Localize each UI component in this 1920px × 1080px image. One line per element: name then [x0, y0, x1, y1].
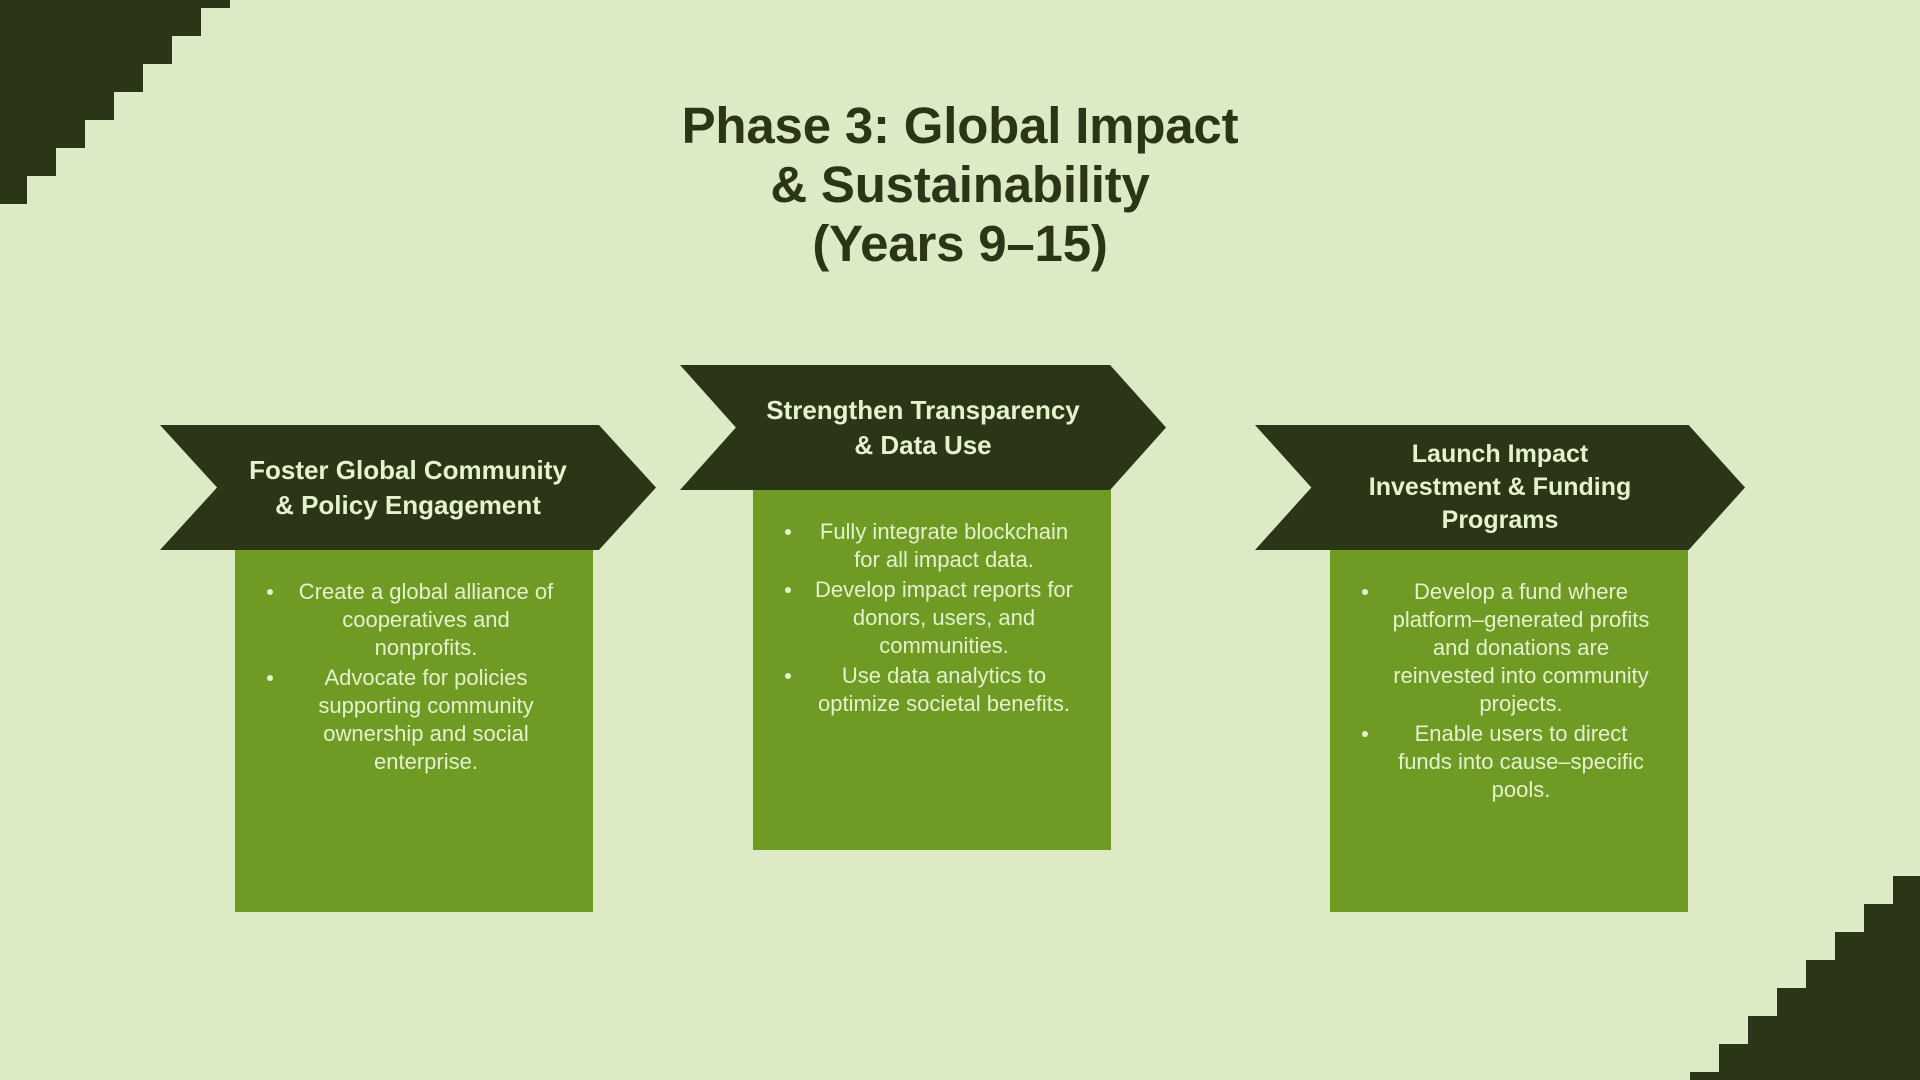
list-item: Develop a fund where platform–generated … [1352, 578, 1666, 718]
bullet-dot-icon [785, 587, 791, 593]
bullet-dot-icon [785, 529, 791, 535]
card-1-bullet-2-text: Advocate for policies supporting communi… [318, 665, 533, 774]
card-3-heading-line-1: Launch Impact [1325, 438, 1675, 471]
page-title-line-2: & Sustainability [0, 155, 1920, 214]
page-title-line-3: (Years 9–15) [0, 214, 1920, 273]
card-2-body-panel: Fully integrate blockchain for all impac… [753, 490, 1111, 850]
card-2-bullet-2-text: Develop impact reports for donors, users… [815, 577, 1073, 658]
card-3-body-panel: Develop a fund where platform–generated … [1330, 550, 1688, 912]
page-title: Phase 3: Global Impact & Sustainability … [0, 96, 1920, 273]
bullet-dot-icon [267, 589, 273, 595]
bullet-dot-icon [1362, 731, 1368, 737]
stair-step-corner-bottom-right [1660, 850, 1920, 1080]
bullet-dot-icon [267, 675, 273, 681]
bullet-dot-icon [785, 673, 791, 679]
card-1-chevron-header[interactable]: Foster Global Community & Policy Engagem… [160, 425, 656, 550]
list-item: Use data analytics to optimize societal … [775, 662, 1089, 718]
list-item: Enable users to direct funds into cause–… [1352, 720, 1666, 804]
card-2-bullet-list: Fully integrate blockchain for all impac… [775, 518, 1089, 718]
card-1-body-panel: Create a global alliance of cooperatives… [235, 550, 593, 912]
list-item: Develop impact reports for donors, users… [775, 576, 1089, 660]
card-2-heading-line-2: & Data Use [750, 428, 1096, 462]
card-3-bullet-2-text: Enable users to direct funds into cause–… [1398, 721, 1644, 802]
card-3-chevron-header[interactable]: Launch Impact Investment & Funding Progr… [1255, 425, 1745, 550]
card-2-heading-line-1: Strengthen Transparency [750, 393, 1096, 427]
card-3-bullet-1-text: Develop a fund where platform–generated … [1393, 579, 1650, 716]
card-1-heading-line-1: Foster Global Community [230, 453, 586, 487]
card-1-bullet-list: Create a global alliance of cooperatives… [257, 578, 571, 776]
card-1-heading-line-2: & Policy Engagement [230, 488, 586, 522]
card-1-bullet-1-text: Create a global alliance of cooperatives… [299, 579, 553, 660]
card-2-chevron-header[interactable]: Strengthen Transparency & Data Use [680, 365, 1166, 490]
card-2-bullet-1-text: Fully integrate blockchain for all impac… [820, 519, 1068, 572]
list-item: Advocate for policies supporting communi… [257, 664, 571, 776]
card-3-bullet-list: Develop a fund where platform–generated … [1352, 578, 1666, 804]
list-item: Fully integrate blockchain for all impac… [775, 518, 1089, 574]
card-2-bullet-3-text: Use data analytics to optimize societal … [818, 663, 1070, 716]
card-3-heading-line-2: Investment & Funding [1325, 471, 1675, 504]
list-item: Create a global alliance of cooperatives… [257, 578, 571, 662]
bullet-dot-icon [1362, 589, 1368, 595]
card-3-heading-line-3: Programs [1325, 504, 1675, 537]
page-title-line-1: Phase 3: Global Impact [0, 96, 1920, 155]
